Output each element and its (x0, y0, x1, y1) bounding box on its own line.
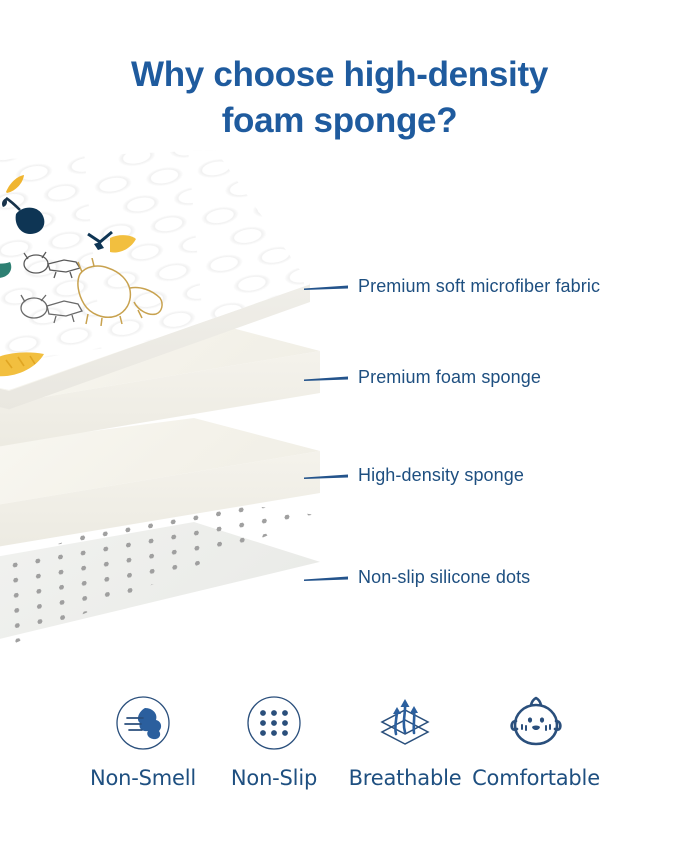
feature-label: Comfortable (472, 766, 600, 790)
page-title: Why choose high-density foam sponge? (0, 52, 679, 144)
feature-label: Non-Slip (231, 766, 317, 790)
product-infographic: Why choose high-density foam sponge? (0, 0, 679, 849)
callout-high-density-sponge: High-density sponge (304, 465, 524, 486)
callout-label: Premium foam sponge (358, 367, 541, 388)
eggplant-motif-icon (0, 194, 54, 240)
wind-odor-icon (115, 692, 171, 754)
giraffe-motif-icon (68, 258, 168, 326)
feature-comfortable: Comfortable (471, 692, 602, 790)
callout-label: High-density sponge (358, 465, 524, 486)
feature-label: Breathable (349, 766, 462, 790)
callout-label: Premium soft microfiber fabric (358, 276, 600, 297)
carrot-motif-icon (108, 232, 138, 256)
title-line-2: foam sponge? (0, 98, 679, 144)
leader-line-icon (304, 469, 348, 483)
dot-grid-icon (246, 692, 302, 754)
callout-label: Non-slip silicone dots (358, 567, 530, 588)
callout-non-slip-silicone-dots: Non-slip silicone dots (304, 567, 530, 588)
callout-premium-foam-sponge: Premium foam sponge (304, 367, 541, 388)
feature-label: Non-Smell (90, 766, 196, 790)
leader-line-icon (304, 571, 348, 585)
baby-face-icon (507, 692, 565, 754)
carrot-motif-icon (2, 172, 28, 196)
callout-microfiber-fabric: Premium soft microfiber fabric (304, 276, 600, 297)
airflow-layers-icon (376, 692, 434, 754)
leader-line-icon (304, 371, 348, 385)
title-line-1: Why choose high-density (131, 55, 548, 94)
feature-badges-row: Non-Smell Non-Slip (0, 692, 679, 802)
feature-breathable: Breathable (340, 692, 471, 790)
feature-non-slip: Non-Slip (209, 692, 340, 790)
mattress-exploded-view (0, 150, 350, 690)
feature-non-smell: Non-Smell (78, 692, 209, 790)
leader-line-icon (304, 280, 348, 294)
chili-motif-icon (0, 298, 12, 334)
